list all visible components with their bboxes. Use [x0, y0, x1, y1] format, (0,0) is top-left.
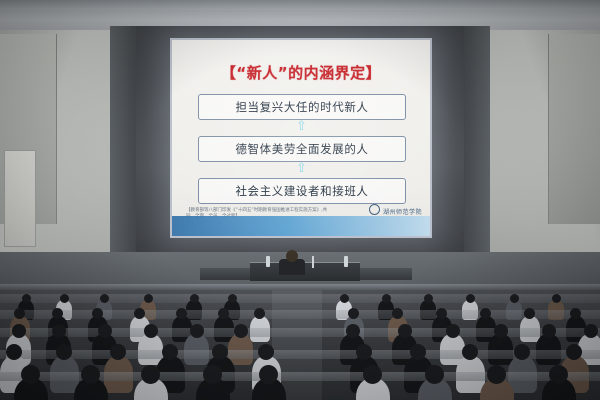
audience-member-head — [446, 324, 460, 338]
audience-member-head — [340, 294, 349, 303]
audience-member-head — [218, 308, 229, 319]
audience-member-head — [424, 294, 433, 303]
audience-member-head — [410, 344, 426, 360]
audience-member-head — [98, 324, 112, 338]
audience-member-head — [52, 308, 63, 319]
water-bottle-1 — [266, 256, 270, 267]
audience-member-head — [100, 294, 109, 303]
audience-member-head — [6, 344, 22, 360]
audience-member-head — [134, 308, 145, 319]
audience-member-head — [570, 308, 581, 319]
up-arrow-icon-1: ⇧ — [296, 120, 306, 134]
projection-screen: 【“新人”的内涵界定】 担当复兴大任的时代新人 ⇧ 德智体美劳全面发展的人 ⇧ … — [172, 40, 430, 236]
audience-member-head — [144, 324, 158, 338]
audience-member-head — [52, 324, 66, 338]
slide-institution-logo: 湖州师范学院 — [369, 204, 422, 216]
audience-member-head — [425, 365, 444, 384]
audience-member-head — [346, 324, 360, 338]
audience-member-head — [110, 344, 126, 360]
slide-box-3: 社会主义建设者和接班人 — [198, 178, 406, 204]
audience-member-head — [60, 294, 69, 303]
audience-member-head — [190, 294, 199, 303]
audience-member-head — [356, 344, 372, 360]
audience-member-head — [392, 308, 403, 319]
side-door — [4, 150, 36, 247]
audience-member-head — [552, 294, 561, 303]
stage-column-left — [110, 26, 136, 258]
audience-member-head — [510, 294, 519, 303]
audience-member-head — [436, 308, 447, 319]
audience-member-head — [462, 344, 478, 360]
audience-member-head — [56, 344, 72, 360]
audience-member-head — [14, 308, 25, 319]
slide-title: 【“新人”的内涵界定】 — [172, 62, 430, 83]
audience-member-head — [141, 365, 160, 384]
audience-member-head — [254, 308, 265, 319]
slide-logo-text: 湖州师范学院 — [383, 209, 422, 216]
water-bottle-2 — [344, 256, 348, 267]
microphone-icon — [312, 256, 314, 268]
audience-member-head — [348, 308, 359, 319]
up-arrow-icon-2: ⇧ — [296, 162, 306, 176]
audience-member-head — [398, 324, 412, 338]
audience-member-head — [566, 344, 582, 360]
audience-member-head — [212, 344, 228, 360]
audience-member-head — [258, 344, 274, 360]
audience-member-head — [190, 324, 204, 338]
audience-member-head — [494, 324, 508, 338]
right-wall-panel — [548, 34, 600, 224]
audience-member-head — [584, 324, 598, 338]
stage-column-right — [464, 26, 490, 258]
ceiling-band — [0, 0, 600, 10]
presenter-head — [286, 250, 298, 262]
seat-row — [0, 328, 600, 337]
audience-member-head — [92, 308, 103, 319]
audience-member-head — [12, 324, 26, 338]
slide-footer-bar — [172, 216, 430, 236]
audience-member-head — [466, 294, 475, 303]
audience-member-head — [487, 365, 506, 384]
audience-member-head — [382, 294, 391, 303]
audience-member-head — [234, 324, 248, 338]
audience-member-head — [542, 324, 556, 338]
audience-member-head — [228, 294, 237, 303]
logo-mark-icon — [369, 204, 380, 215]
audience-member-head — [514, 344, 530, 360]
audience-member-head — [162, 344, 178, 360]
audience-member-head — [176, 308, 187, 319]
audience-member-head — [203, 365, 222, 384]
lecture-hall-photo: 【“新人”的内涵界定】 担当复兴大任的时代新人 ⇧ 德智体美劳全面发展的人 ⇧ … — [0, 0, 600, 400]
audience-member-head — [21, 365, 40, 384]
audience-member-head — [480, 308, 491, 319]
slide-box-2: 德智体美劳全面发展的人 — [198, 136, 406, 162]
audience-member-head — [259, 365, 278, 384]
audience-member-head — [363, 365, 382, 384]
seat-row — [0, 350, 600, 359]
audience-member-head — [22, 294, 31, 303]
seat-row — [0, 310, 600, 319]
audience-member-head — [144, 294, 153, 303]
slide-box-1: 担当复兴大任的时代新人 — [198, 94, 406, 120]
audience-member-head — [524, 308, 535, 319]
audience-member-head — [81, 365, 100, 384]
audience-member-head — [549, 365, 568, 384]
